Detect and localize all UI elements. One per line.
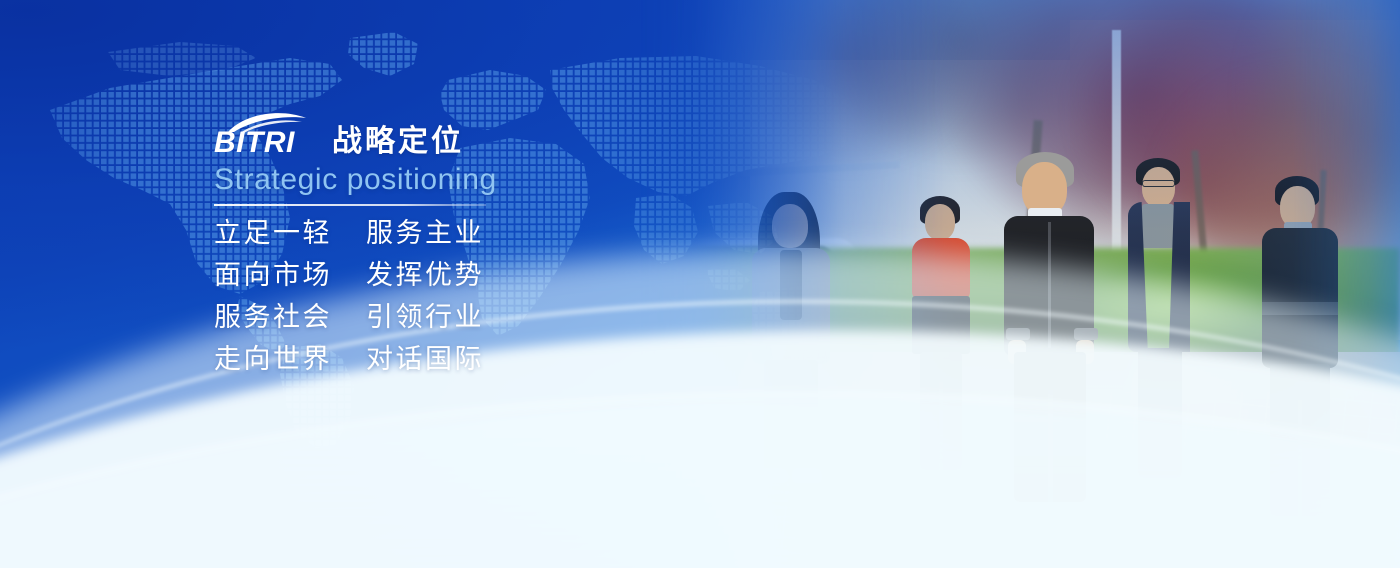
slogan-row: 服务社会 引领行业 xyxy=(214,304,734,331)
campus-walk-photo xyxy=(640,0,1400,568)
title-divider xyxy=(214,204,486,206)
bitri-logo-text: BITRI xyxy=(214,128,295,158)
slogan-left: 立足一轻 xyxy=(214,220,348,247)
bitri-logo[interactable]: BITRI xyxy=(214,112,318,158)
brand-subtitle-en: Strategic positioning xyxy=(214,162,734,198)
photo-top-tint xyxy=(640,0,1400,230)
slogan-right: 发挥优势 xyxy=(366,262,484,289)
slogan-row: 立足一轻 服务主业 xyxy=(214,220,734,247)
slogan-row: 走向世界 对话国际 xyxy=(214,346,734,373)
strategic-positioning-banner: BITRI 战略定位 Strategic positioning 立足一轻 服务… xyxy=(0,0,1400,568)
brand-row: BITRI 战略定位 xyxy=(214,108,734,158)
banner-text-block: BITRI 战略定位 Strategic positioning 立足一轻 服务… xyxy=(214,108,734,373)
slogan-right: 引领行业 xyxy=(366,304,484,331)
slogan-right: 服务主业 xyxy=(366,220,484,247)
slogan-row: 面向市场 发挥优势 xyxy=(214,262,734,289)
cuff xyxy=(1006,328,1030,340)
jacket-zipper xyxy=(1048,222,1051,348)
slogan-list: 立足一轻 服务主业 面向市场 发挥优势 服务社会 引领行业 走向世界 对话国际 xyxy=(214,220,734,373)
slogan-right: 对话国际 xyxy=(366,346,484,373)
cuff xyxy=(1074,328,1098,340)
slogan-left: 服务社会 xyxy=(214,304,348,331)
brand-title-cn: 战略定位 xyxy=(332,127,464,158)
slogan-left: 面向市场 xyxy=(214,262,348,289)
leg-gap xyxy=(1048,390,1053,502)
slogan-left: 走向世界 xyxy=(214,346,348,373)
